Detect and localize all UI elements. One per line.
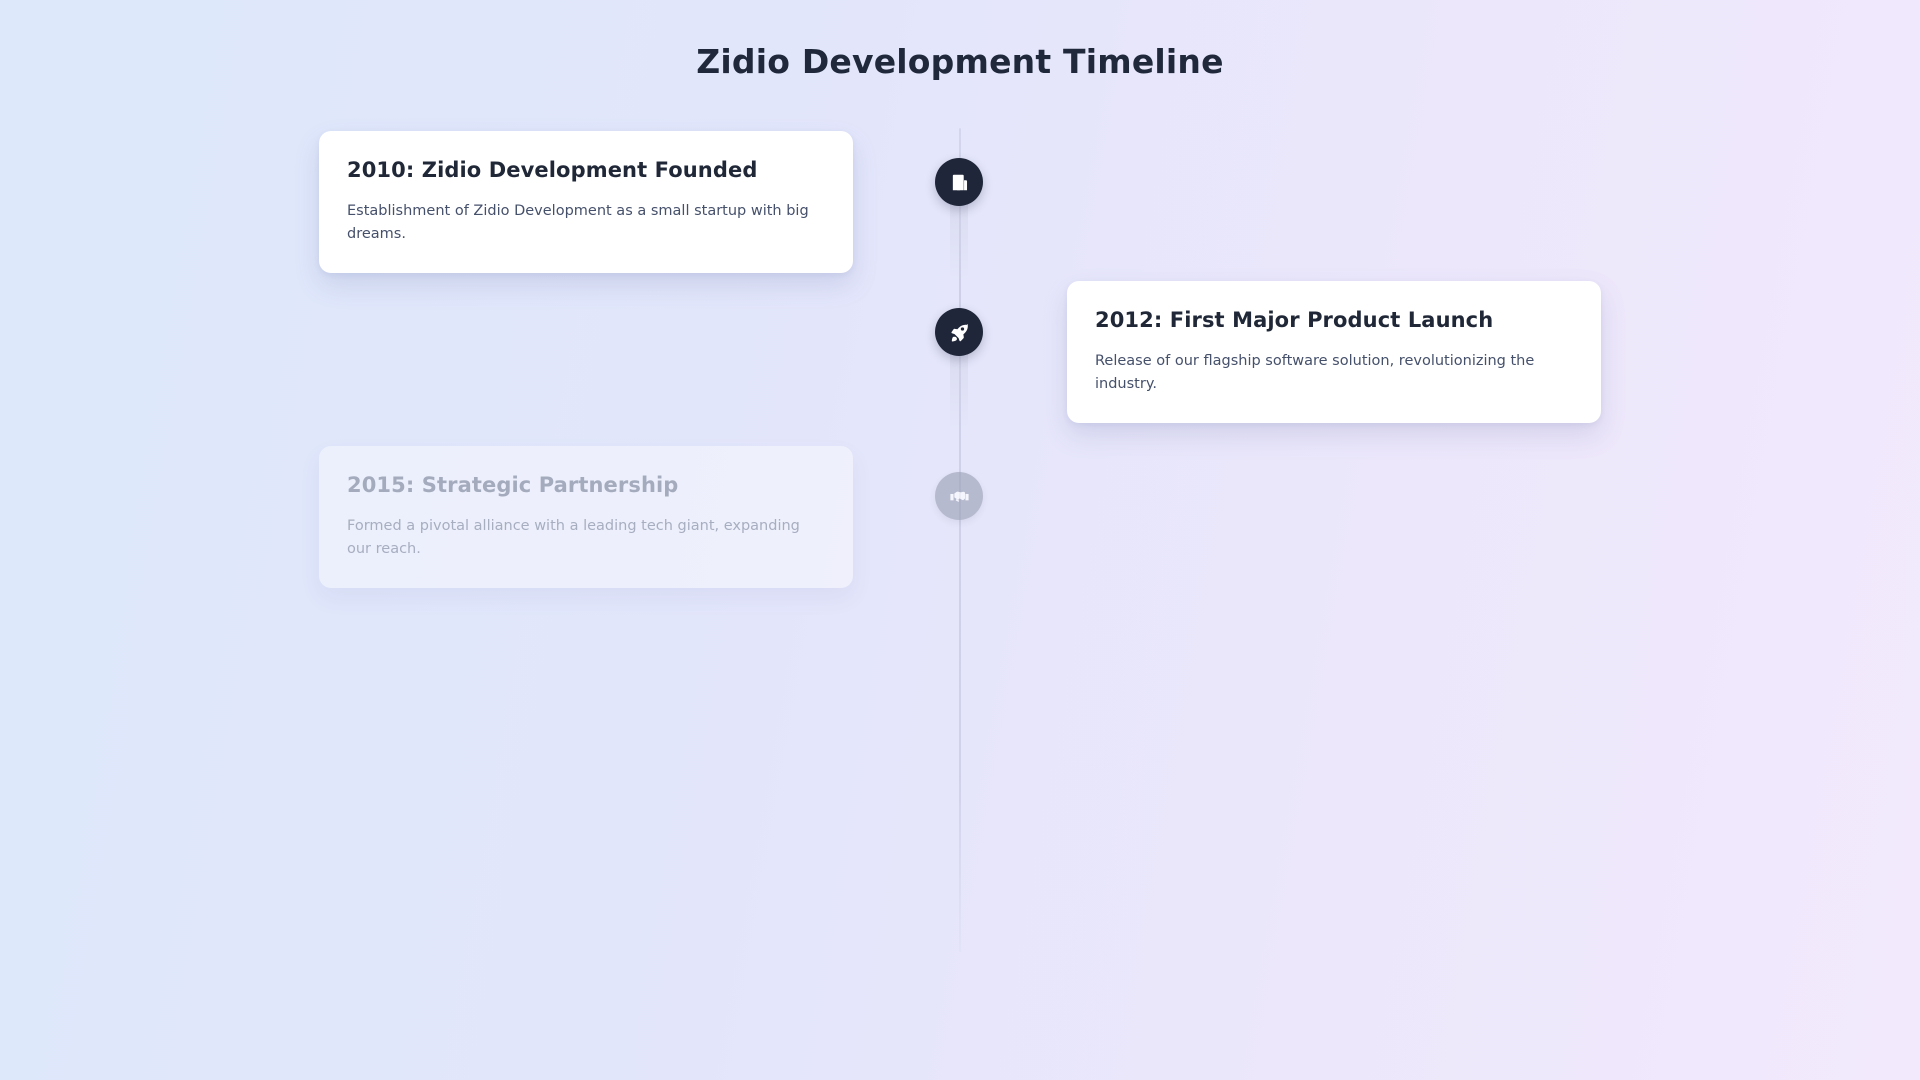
- timeline: 2010: Zidio Development Founded Establis…: [0, 0, 1920, 1080]
- timeline-card-2015-strategic-partnership[interactable]: 2015: Strategic Partnership Formed a piv…: [319, 446, 853, 588]
- timeline-node-glow: [950, 196, 968, 282]
- timeline-card-title: 2010: Zidio Development Founded: [347, 157, 825, 183]
- timeline-card-title: 2012: First Major Product Launch: [1095, 307, 1573, 333]
- timeline-card-description: Release of our flagship software solutio…: [1095, 350, 1563, 395]
- timeline-page: Zidio Development Timeline 2010: Zidio D…: [0, 0, 1920, 1080]
- timeline-card-title: 2015: Strategic Partnership: [347, 472, 825, 498]
- building-icon: [949, 172, 970, 193]
- timeline-card-description: Formed a pivotal alliance with a leading…: [347, 515, 815, 560]
- timeline-card-2012-product-launch[interactable]: 2012: First Major Product Launch Release…: [1067, 281, 1601, 423]
- timeline-card-2010-founded[interactable]: 2010: Zidio Development Founded Establis…: [319, 131, 853, 273]
- rocket-icon: [949, 322, 970, 343]
- timeline-node-2012-product-launch[interactable]: [935, 308, 983, 356]
- timeline-node-glow: [950, 346, 968, 432]
- timeline-node-2015-strategic-partnership[interactable]: [935, 472, 983, 520]
- timeline-node-2010-founded[interactable]: [935, 158, 983, 206]
- handshake-icon: [949, 486, 970, 507]
- timeline-card-description: Establishment of Zidio Development as a …: [347, 200, 815, 245]
